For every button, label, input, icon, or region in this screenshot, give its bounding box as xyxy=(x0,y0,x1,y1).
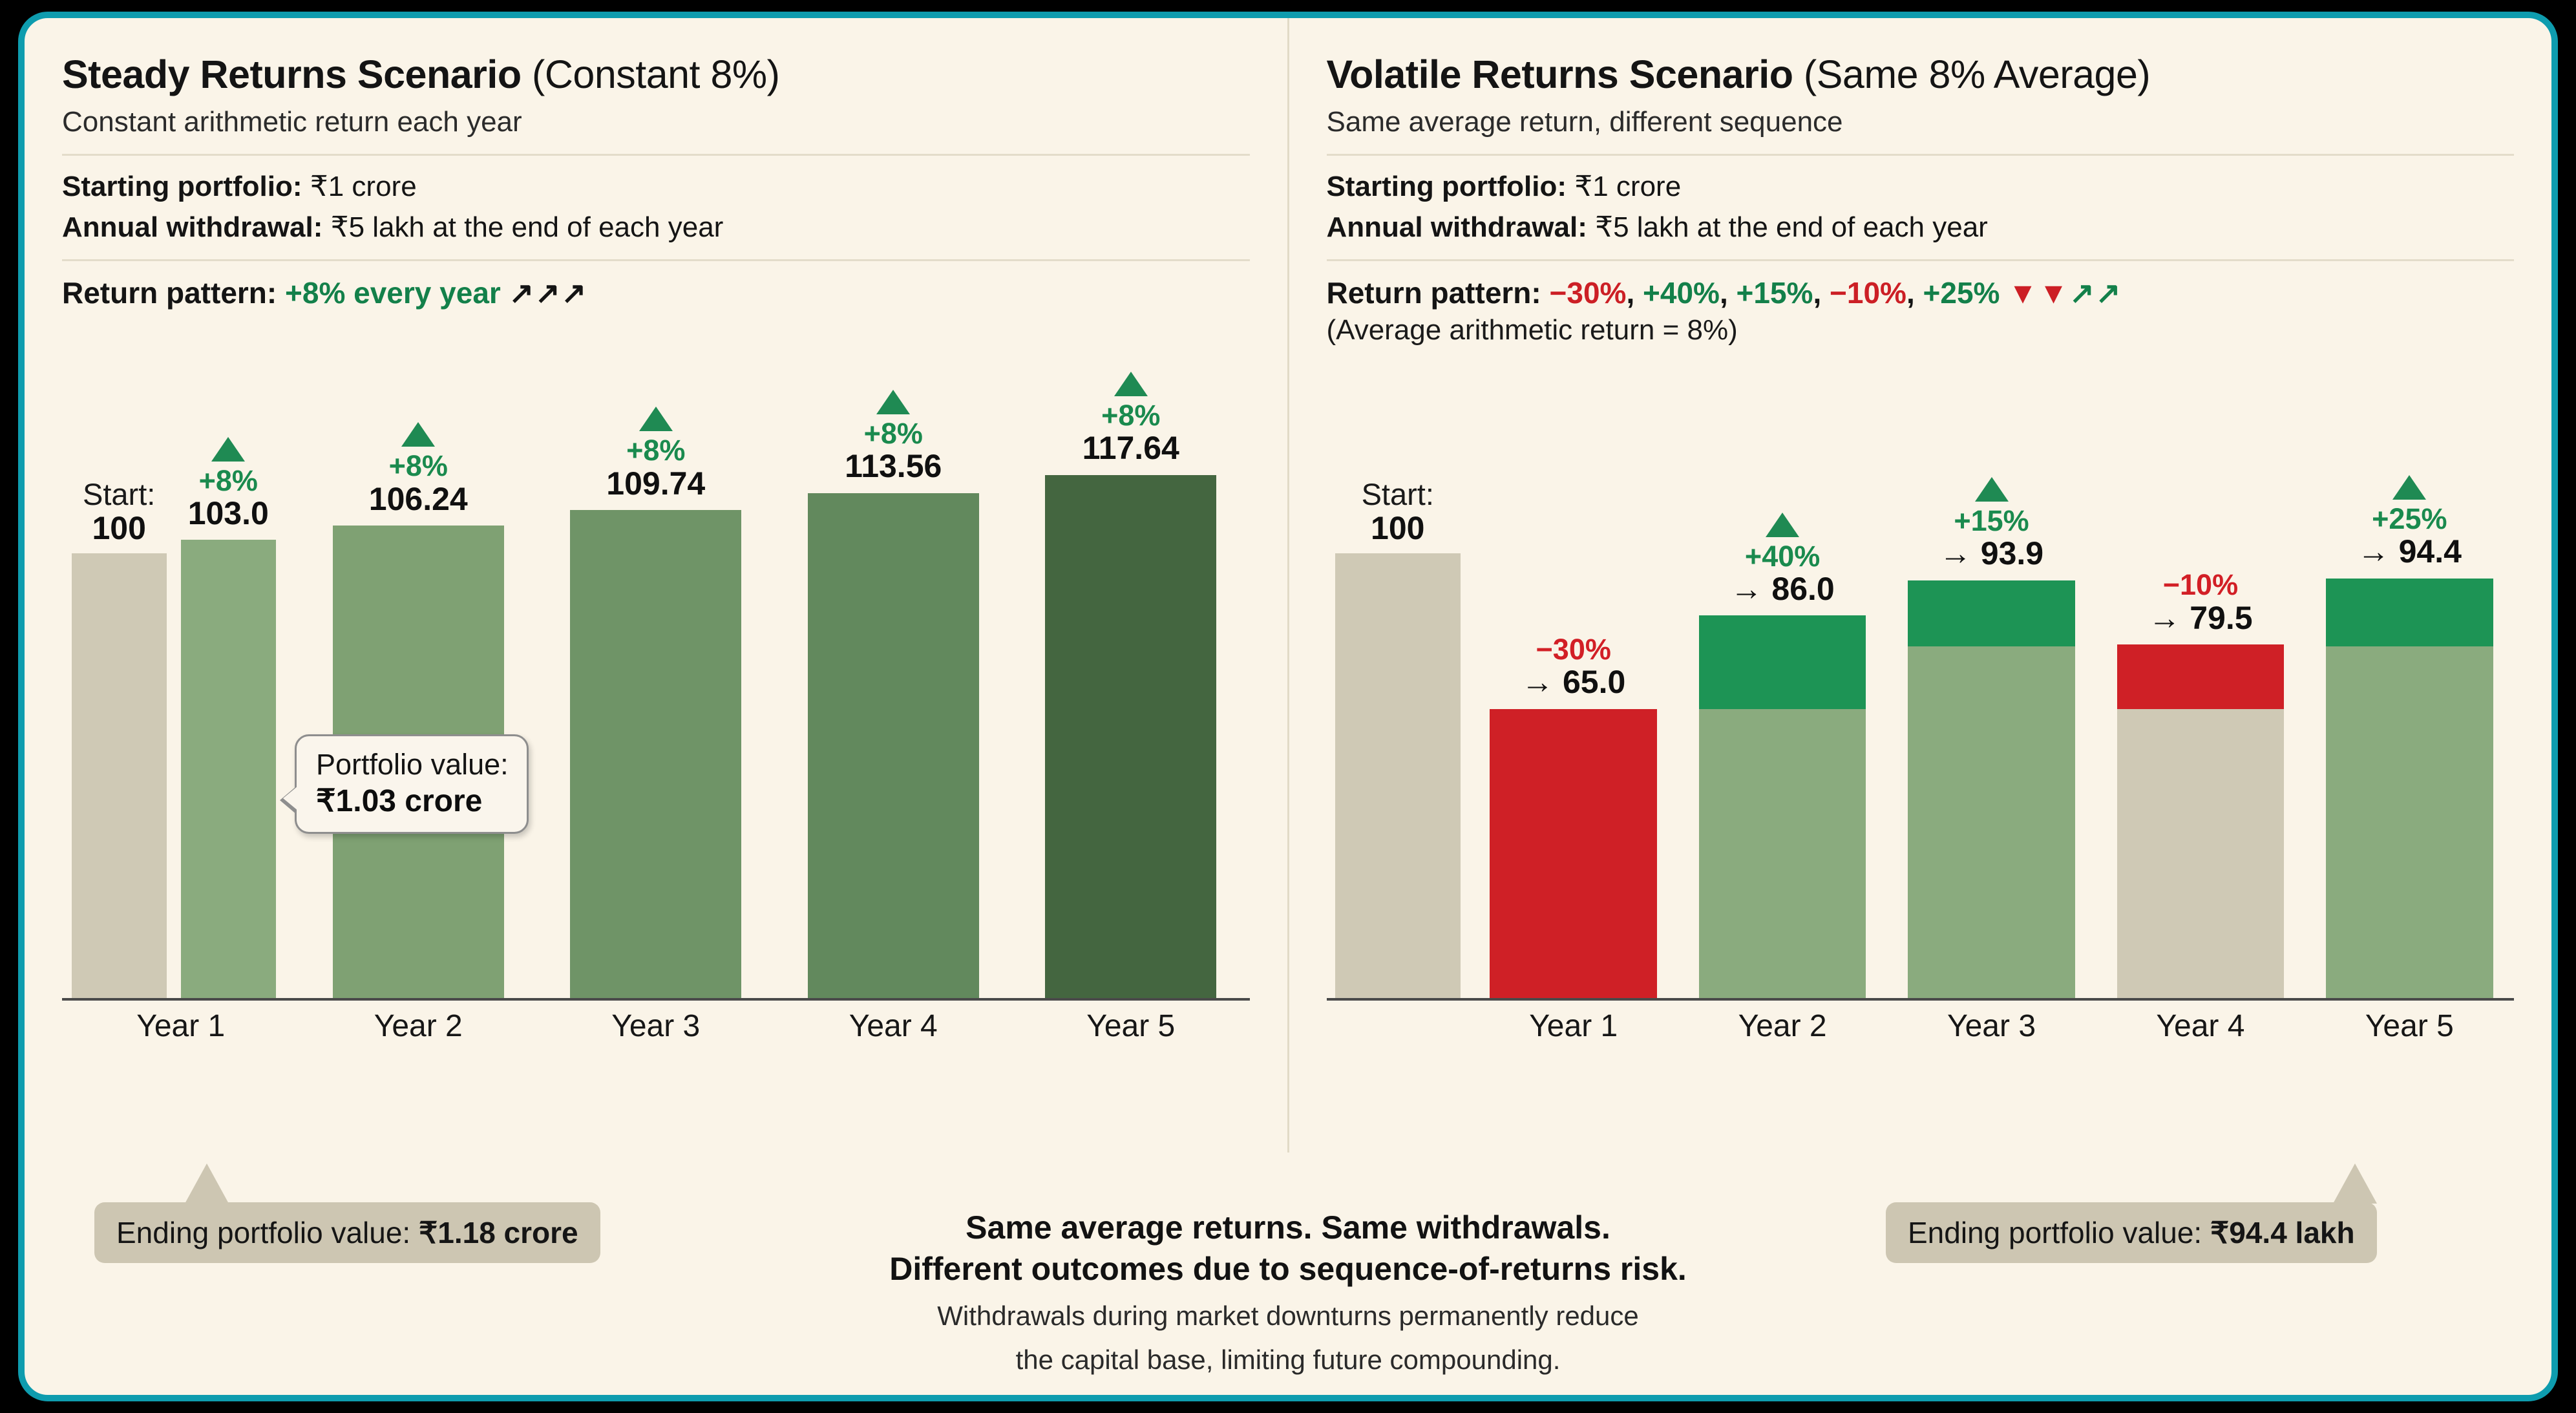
triangle-up-icon xyxy=(1114,372,1148,396)
steady-value-5: 117.64 xyxy=(1045,431,1216,466)
steady-x-label-1: Year 1 xyxy=(62,1008,300,1044)
volatile-bar-label-2: +40%→ 86.0 xyxy=(1678,513,1886,607)
volatile-x-label-3: Year 3 xyxy=(1887,1008,2096,1044)
infographic-card: Steady Returns Scenario (Constant 8%) Co… xyxy=(18,12,2558,1401)
volatile-bar-group-4: −10%→ 79.5 xyxy=(2096,442,2305,998)
steady-x-tick-labels: Year 1Year 2Year 3Year 4Year 5 xyxy=(62,1008,1250,1044)
steady-return-pct-4: +8% xyxy=(808,418,979,449)
volatile-x-label-2: Year 2 xyxy=(1678,1008,1886,1044)
right-starting-value: ₹1 crore xyxy=(1567,171,1681,202)
right-starting-portfolio: Starting portfolio: ₹1 crore xyxy=(1327,170,2515,203)
steady-start-bar xyxy=(72,553,167,998)
triangle-up-icon xyxy=(876,390,910,414)
footer-headline-1: Same average returns. Same withdrawals. xyxy=(25,1207,2551,1248)
steady-bar-label-1: +8%103.0 xyxy=(181,437,276,531)
scenario-panels: Steady Returns Scenario (Constant 8%) Co… xyxy=(25,18,2551,1153)
steady-returns-chart: Start:100+8%103.0+8%106.24+8%109.74+8%11… xyxy=(62,445,1250,1039)
pattern-comma: , xyxy=(1906,276,1915,310)
right-ending-pointer-icon xyxy=(2333,1163,2377,1204)
footer-headline-2: Different outcomes due to sequence-of-re… xyxy=(25,1248,2551,1290)
left-return-pattern: Return pattern: +8% every year ↗↗↗ xyxy=(62,275,1250,310)
volatile-x-label-1: Year 1 xyxy=(1469,1008,1678,1044)
pattern-comma: , xyxy=(1626,276,1634,310)
steady-bar-columns: Start:100+8%103.0+8%106.24+8%109.74+8%11… xyxy=(62,442,1250,998)
left-starting-label: Starting portfolio: xyxy=(62,171,302,202)
left-divider-1 xyxy=(62,154,1250,156)
pattern-part-5: +25% xyxy=(1915,276,2000,310)
right-annual-withdrawal: Annual withdrawal: ₹5 lakh at the end of… xyxy=(1327,211,2515,244)
volatile-return-pct-4: −10% xyxy=(2096,569,2305,600)
steady-value-1: 103.0 xyxy=(181,496,276,531)
volatile-x-label-5: Year 5 xyxy=(2305,1008,2514,1044)
steady-returns-panel: Steady Returns Scenario (Constant 8%) Co… xyxy=(25,18,1289,1153)
steady-bar-label-5: +8%117.64 xyxy=(1045,372,1216,466)
right-starting-label: Starting portfolio: xyxy=(1327,171,1567,202)
volatile-start-label: Start:100 xyxy=(1327,478,1470,546)
volatile-base-bar-3 xyxy=(1908,646,2075,998)
right-panel-title: Volatile Returns Scenario (Same 8% Avera… xyxy=(1327,52,2515,97)
start-value: 100 xyxy=(1327,511,1470,546)
volatile-bar-group-5: +25%→ 94.4 xyxy=(2305,442,2514,998)
trend-up-arrows-icon: ↗↗↗ xyxy=(509,276,588,310)
right-pattern-values: −30%, +40%, +15%, −10%, +25% xyxy=(1550,276,2000,310)
steady-return-pct-5: +8% xyxy=(1045,400,1216,431)
start-value: 100 xyxy=(72,511,167,546)
right-title-light: (Same 8% Average) xyxy=(1793,52,2150,96)
triangle-up-icon xyxy=(1975,477,2009,502)
steady-value-4: 113.56 xyxy=(808,449,979,484)
volatile-bar-group-2: +40%→ 86.0 xyxy=(1678,442,1886,998)
start-caption: Start: xyxy=(1327,478,1470,511)
left-panel-title: Steady Returns Scenario (Constant 8%) xyxy=(62,52,1250,97)
pattern-comma: , xyxy=(1813,276,1821,310)
volatile-return-pct-3: +15% xyxy=(1887,505,2096,537)
volatile-value-1: → 65.0 xyxy=(1469,665,1678,700)
portfolio-value-tooltip: Portfolio value: ₹1.03 crore xyxy=(295,734,529,834)
triangle-up-icon xyxy=(211,437,245,462)
left-title-light: (Constant 8%) xyxy=(522,52,780,96)
steady-return-pct-2: +8% xyxy=(333,451,504,482)
volatile-value-3: → 93.9 xyxy=(1887,537,2096,571)
volatile-change-bar-3 xyxy=(1908,580,2075,647)
steady-return-pct-3: +8% xyxy=(570,435,741,466)
left-ending-pointer-icon xyxy=(185,1163,229,1204)
steady-bar-year-1 xyxy=(181,540,276,998)
tooltip-line-1: Portfolio value: xyxy=(316,748,509,781)
pattern-part-4: −10% xyxy=(1821,276,1906,310)
volatile-x-axis xyxy=(1327,998,2515,1001)
volatile-bar-label-4: −10%→ 79.5 xyxy=(2096,566,2305,635)
right-return-pattern: Return pattern: −30%, +40%, +15%, −10%, … xyxy=(1327,275,2515,310)
right-pattern-label: Return pattern: xyxy=(1327,276,1541,310)
volatile-base-bar-4 xyxy=(2117,709,2285,998)
volatile-x-tick-labels: Year 1Year 2Year 3Year 4Year 5 xyxy=(1327,1008,2515,1044)
volatile-start-group: Start:100 xyxy=(1327,442,1470,998)
pattern-part-2: +40% xyxy=(1634,276,1720,310)
steady-value-3: 109.74 xyxy=(570,467,741,502)
tooltip-line-2: ₹1.03 crore xyxy=(316,783,509,819)
volatile-base-bar-5 xyxy=(2326,646,2493,998)
steady-bar-label-2: +8%106.24 xyxy=(333,422,504,516)
down-arrows-icon: ▼▼ xyxy=(2008,276,2069,310)
steady-start-label: Start:100 xyxy=(72,478,167,546)
volatile-returns-panel: Volatile Returns Scenario (Same 8% Avera… xyxy=(1289,18,2552,1153)
right-withdrawal-label: Annual withdrawal: xyxy=(1327,211,1587,243)
left-starting-value: ₹1 crore xyxy=(302,171,417,202)
volatile-change-bar-1 xyxy=(1490,709,1657,998)
left-pattern-label: Return pattern: xyxy=(62,276,277,310)
volatile-bar-group-1: −30%→ 65.0 xyxy=(1469,442,1678,998)
steady-bar-year-4 xyxy=(808,493,979,998)
right-average-note: (Average arithmetic return = 8%) xyxy=(1327,314,2515,346)
left-pattern-value: +8% every year xyxy=(277,276,501,310)
trend-mixed-arrows-icon: ▼▼↗↗ xyxy=(2008,276,2122,310)
volatile-bar-label-5: +25%→ 94.4 xyxy=(2305,475,2514,569)
steady-bar-label-3: +8%109.74 xyxy=(570,407,741,501)
left-title-bold: Steady Returns Scenario xyxy=(62,52,522,96)
steady-bar-group-4: +8%113.56 xyxy=(775,442,1013,998)
right-title-bold: Volatile Returns Scenario xyxy=(1327,52,1793,96)
volatile-plot-area: Start:100−30%→ 65.0+40%→ 86.0+15%→ 93.9−… xyxy=(1327,445,2515,1001)
steady-bar-label-4: +8%113.56 xyxy=(808,390,979,484)
left-divider-2 xyxy=(62,259,1250,261)
steady-return-pct-1: +8% xyxy=(181,465,276,496)
right-panel-subtitle: Same average return, different sequence xyxy=(1327,106,2515,138)
steady-x-label-4: Year 4 xyxy=(775,1008,1013,1044)
steady-bar-group-2: +8%106.24 xyxy=(300,442,538,998)
volatile-bar-label-1: −30%→ 65.0 xyxy=(1469,630,1678,700)
left-panel-subtitle: Constant arithmetic return each year xyxy=(62,106,1250,138)
triangle-up-icon xyxy=(401,422,435,447)
steady-value-2: 106.24 xyxy=(333,482,504,517)
triangle-up-icon xyxy=(1766,513,1799,537)
footer-message: Same average returns. Same withdrawals. … xyxy=(25,1207,2551,1378)
steady-bar-group-1: Start:100+8%103.0 xyxy=(62,442,300,998)
left-withdrawal-value: ₹5 lakh at the end of each year xyxy=(322,211,723,243)
steady-bar-group-5: +8%117.64 xyxy=(1012,442,1250,998)
pattern-part-1: −30% xyxy=(1550,276,1627,310)
steady-bar-year-3 xyxy=(570,510,741,998)
volatile-bar-group-3: +15%→ 93.9 xyxy=(1887,442,2096,998)
right-withdrawal-value: ₹5 lakh at the end of each year xyxy=(1587,211,1988,243)
up-arrows-icon: ↗↗ xyxy=(2069,276,2122,310)
start-caption: Start: xyxy=(72,478,167,511)
volatile-x-label-spacer xyxy=(1327,1008,1470,1044)
left-starting-portfolio: Starting portfolio: ₹1 crore xyxy=(62,170,1250,203)
right-divider-1 xyxy=(1327,154,2515,156)
steady-bar-group-3: +8%109.74 xyxy=(537,442,775,998)
steady-bar-year-5 xyxy=(1045,475,1216,998)
volatile-change-bar-5 xyxy=(2326,579,2493,647)
volatile-x-label-4: Year 4 xyxy=(2096,1008,2305,1044)
volatile-base-bar-2 xyxy=(1699,709,1866,998)
volatile-value-5: → 94.4 xyxy=(2305,535,2514,569)
steady-x-axis xyxy=(62,998,1250,1001)
volatile-bar-columns: Start:100−30%→ 65.0+40%→ 86.0+15%→ 93.9−… xyxy=(1327,442,2515,998)
left-annual-withdrawal: Annual withdrawal: ₹5 lakh at the end of… xyxy=(62,211,1250,244)
triangle-up-icon xyxy=(639,407,673,431)
right-divider-2 xyxy=(1327,259,2515,261)
triangle-up-icon xyxy=(2392,475,2426,500)
pattern-comma: , xyxy=(1720,276,1728,310)
left-withdrawal-label: Annual withdrawal: xyxy=(62,211,322,243)
steady-x-label-2: Year 2 xyxy=(300,1008,538,1044)
volatile-return-pct-5: +25% xyxy=(2305,504,2514,535)
steady-plot-area: Start:100+8%103.0+8%106.24+8%109.74+8%11… xyxy=(62,445,1250,1001)
footer-note-2: the capital base, limiting future compou… xyxy=(25,1343,2551,1378)
volatile-start-bar xyxy=(1335,553,1461,998)
volatile-value-4: → 79.5 xyxy=(2096,601,2305,636)
volatile-change-bar-4 xyxy=(2117,644,2285,709)
steady-x-label-5: Year 5 xyxy=(1012,1008,1250,1044)
volatile-bar-label-3: +15%→ 93.9 xyxy=(1887,477,2096,571)
volatile-value-2: → 86.0 xyxy=(1678,572,1886,607)
volatile-returns-chart: Start:100−30%→ 65.0+40%→ 86.0+15%→ 93.9−… xyxy=(1327,445,2515,1039)
footer-note-1: Withdrawals during market downturns perm… xyxy=(25,1299,2551,1334)
steady-x-label-3: Year 3 xyxy=(537,1008,775,1044)
volatile-change-bar-2 xyxy=(1699,615,1866,708)
pattern-part-3: +15% xyxy=(1728,276,1813,310)
volatile-return-pct-2: +40% xyxy=(1678,541,1886,572)
volatile-return-pct-1: −30% xyxy=(1469,634,1678,665)
